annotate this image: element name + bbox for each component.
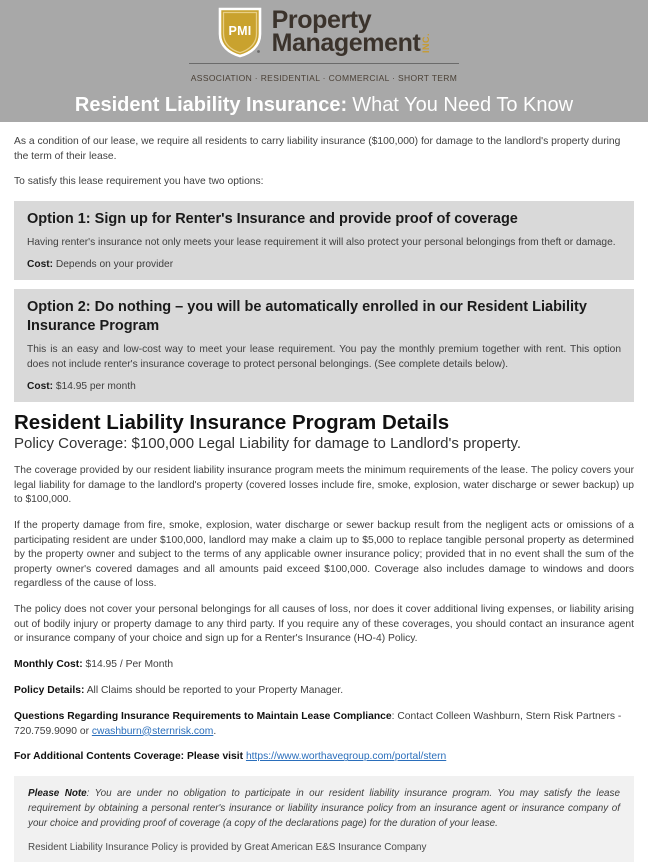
policy-details-row: Policy Details: All Claims should be rep… bbox=[14, 684, 634, 699]
additional-coverage-row: For Additional Contents Coverage: Please… bbox=[14, 750, 634, 765]
monthly-cost-value: $14.95 / Per Month bbox=[86, 659, 174, 670]
program-details-subheading: Policy Coverage: $100,000 Legal Liabilit… bbox=[14, 435, 634, 454]
option-1-cost-label: Cost: bbox=[27, 259, 53, 270]
option-2-cost: Cost: $14.95 per month bbox=[27, 381, 621, 392]
policy-provider-footer: Resident Liability Insurance Policy is p… bbox=[28, 842, 620, 853]
program-details-heading: Resident Liability Insurance Program Det… bbox=[14, 411, 634, 435]
document-body: As a condition of our lease, we require … bbox=[0, 125, 648, 862]
logo-tagline: ASSOCIATION · RESIDENTIAL · COMMERCIAL ·… bbox=[191, 73, 457, 83]
option-1-cost-value: Depends on your provider bbox=[56, 259, 173, 270]
page-title-light: What You Need To Know bbox=[352, 94, 573, 117]
questions-value-post: . bbox=[213, 726, 216, 737]
page-title-strong: Resident Liability Insurance: bbox=[75, 94, 347, 117]
additional-coverage-label: For Additional Contents Coverage: Please… bbox=[14, 751, 243, 762]
option-2-cost-label: Cost: bbox=[27, 381, 53, 392]
logo-header-band: PMI Property Management INC. ASSOCIATION… bbox=[0, 0, 648, 88]
monthly-cost-row: Monthly Cost: $14.95 / Per Month bbox=[14, 658, 634, 673]
contact-email-link[interactable]: cwashburn@sternrisk.com bbox=[92, 726, 213, 737]
option-2-box: Option 2: Do nothing – you will be autom… bbox=[14, 289, 634, 402]
details-paragraph-2: If the property damage from fire, smoke,… bbox=[14, 519, 634, 592]
details-paragraph-1: The coverage provided by our resident li… bbox=[14, 464, 634, 508]
wordmark-line-management: Management bbox=[272, 32, 421, 55]
pmi-shield-icon: PMI bbox=[217, 6, 263, 58]
logo-lockup: PMI Property Management INC. bbox=[217, 6, 432, 58]
please-note-label: Please Note bbox=[28, 788, 87, 799]
pmi-wordmark: Property Management INC. bbox=[272, 9, 432, 56]
logo-divider-rule: ASSOCIATION · RESIDENTIAL · COMMERCIAL ·… bbox=[189, 63, 459, 86]
intro-paragraph: As a condition of our lease, we require … bbox=[14, 135, 634, 164]
option-2-cost-value: $14.95 per month bbox=[56, 381, 136, 392]
questions-row: Questions Regarding Insurance Requiremen… bbox=[14, 710, 634, 740]
page-title-banner: Resident Liability Insurance: What You N… bbox=[0, 88, 648, 125]
please-note-box: Please Note: You are under no obligation… bbox=[14, 776, 634, 861]
option-1-body: Having renter's insurance not only meets… bbox=[27, 236, 621, 251]
wordmark-inc-suffix: INC. bbox=[421, 33, 431, 53]
option-1-title: Option 1: Sign up for Renter's Insurance… bbox=[27, 210, 621, 229]
questions-label: Questions Regarding Insurance Requiremen… bbox=[14, 711, 392, 722]
options-lead-text: To satisfy this lease requirement you ha… bbox=[14, 175, 634, 190]
worth-ave-group-link[interactable]: https://www.worthavegroup.com/portal/ste… bbox=[246, 751, 446, 762]
svg-text:PMI: PMI bbox=[228, 24, 251, 38]
option-1-box: Option 1: Sign up for Renter's Insurance… bbox=[14, 201, 634, 280]
option-1-cost: Cost: Depends on your provider bbox=[27, 259, 621, 270]
monthly-cost-label: Monthly Cost: bbox=[14, 659, 83, 670]
option-2-title: Option 2: Do nothing – you will be autom… bbox=[27, 298, 621, 336]
policy-details-value: All Claims should be reported to your Pr… bbox=[87, 685, 343, 696]
option-2-body: This is an easy and low-cost way to meet… bbox=[27, 343, 621, 373]
please-note-body: : You are under no obligation to partici… bbox=[28, 788, 620, 829]
details-paragraph-3: The policy does not cover your personal … bbox=[14, 603, 634, 647]
policy-details-label: Policy Details: bbox=[14, 685, 84, 696]
please-note-text: Please Note: You are under no obligation… bbox=[28, 786, 620, 831]
